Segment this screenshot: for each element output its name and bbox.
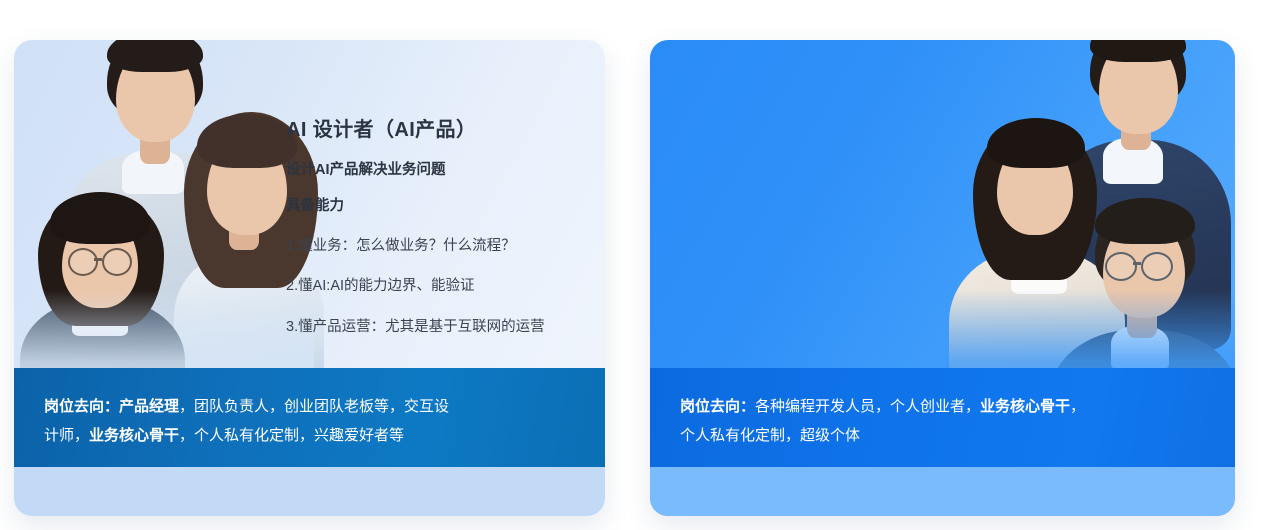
career-banner-text-2: 个人私有化定制，超级个体 (680, 427, 860, 444)
eyeglasses-icon (1141, 252, 1173, 281)
eyeglasses-icon (68, 248, 98, 276)
card-footer-strip (14, 467, 605, 516)
eyeglasses-icon (1105, 252, 1137, 281)
card-ai-developer[interactable]: AI 开发者（AI 应用开发） 实现设计者设计的AI工具 具备能力 1.懂业务：… (650, 40, 1235, 516)
eyeglasses-icon (102, 248, 132, 276)
capability-item-1: 1.懂业务：怎么做业务？什么流程？ (286, 235, 596, 257)
career-banner-text-1-tail: ， (1070, 398, 1085, 415)
designer-team-photo (14, 40, 314, 410)
developer-team-photo (945, 40, 1235, 410)
career-highlight-2: 业务核心骨干 (89, 427, 179, 444)
career-highlight-1: 产品经理 (119, 398, 179, 415)
career-banner-line-2: 计师，业务核心骨干，个人私有化定制，兴趣爱好者等 (44, 421, 575, 450)
capability-item-3: 3.懂产品运营：尤其是基于互联网的运营 (286, 316, 596, 338)
card-section-label: 具备能力 (286, 197, 596, 216)
career-banner-text-2b: ，个人私有化定制，兴趣爱好者等 (179, 427, 404, 444)
career-banner-line-1: 岗位去向：产品经理，团队负责人，创业团队老板等，交互设 (44, 392, 575, 421)
career-banner-text-1: ，团队负责人，创业团队老板等，交互设 (179, 398, 449, 415)
capability-item-2: 2.懂AI:AI的能力边界、能验证 (286, 275, 596, 297)
career-banner-label: 岗位去向： (44, 398, 119, 415)
card-title: AI 设计者（AI产品） (286, 118, 596, 143)
career-banner-line-1: 岗位去向：各种编程开发人员，个人创业者，业务核心骨干， (680, 392, 1205, 421)
career-banner: 岗位去向：各种编程开发人员，个人创业者，业务核心骨干， 个人私有化定制，超级个体 (650, 368, 1235, 467)
designer-card-content: AI 设计者（AI产品） 设计AI产品解决业务问题 具备能力 1.懂业务：怎么做… (286, 118, 596, 338)
career-banner-text-1: 各种编程开发人员，个人创业者， (755, 398, 980, 415)
page-root: AI 设计者（AI产品） 设计AI产品解决业务问题 具备能力 1.懂业务：怎么做… (0, 0, 1267, 530)
career-banner-line-2: 个人私有化定制，超级个体 (680, 421, 1205, 450)
card-footer-strip (650, 467, 1235, 516)
career-banner-text-2a: 计师， (44, 427, 89, 444)
card-ai-designer[interactable]: AI 设计者（AI产品） 设计AI产品解决业务问题 具备能力 1.懂业务：怎么做… (14, 40, 605, 516)
career-banner-label: 岗位去向： (680, 398, 755, 415)
card-subtitle: 设计AI产品解决业务问题 (286, 161, 596, 180)
career-banner: 岗位去向：产品经理，团队负责人，创业团队老板等，交互设 计师，业务核心骨干，个人… (14, 368, 605, 467)
career-highlight-1: 业务核心骨干 (980, 398, 1070, 415)
